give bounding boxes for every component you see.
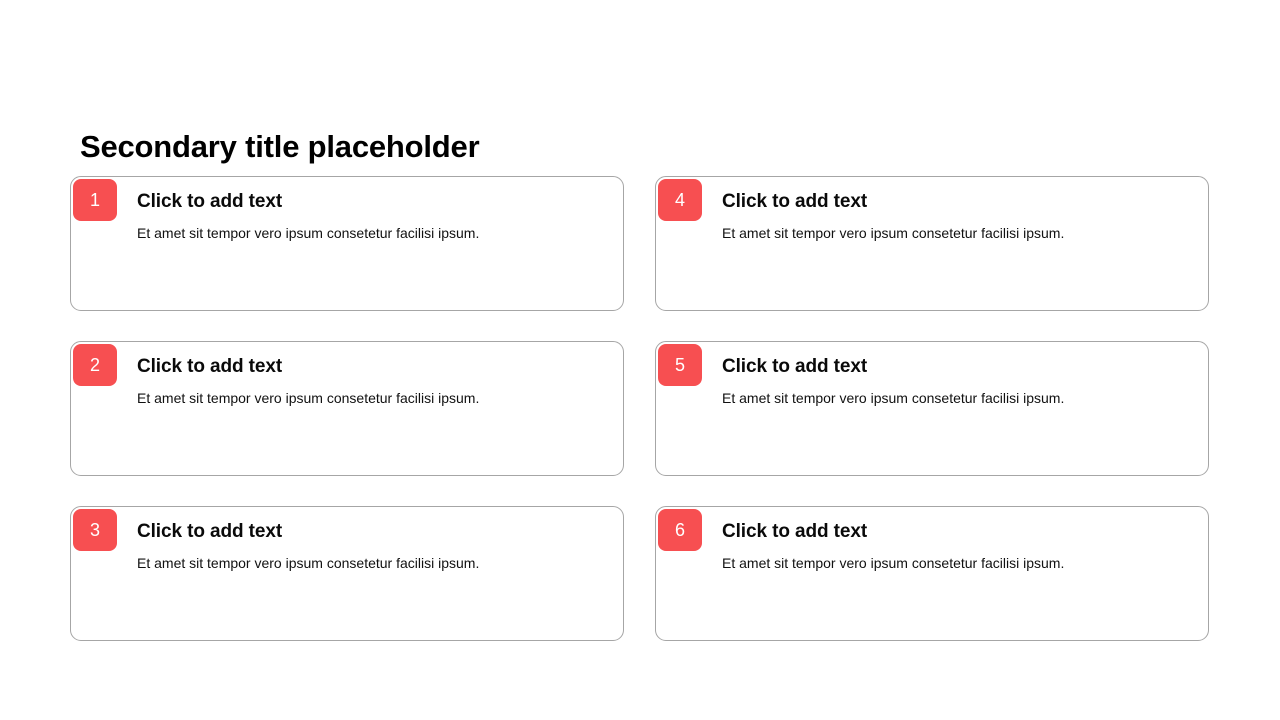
content-card[interactable]: 1 Click to add text Et amet sit tempor v… xyxy=(70,176,624,311)
card-description[interactable]: Et amet sit tempor vero ipsum consetetur… xyxy=(722,389,1194,408)
card-body: Click to add text Et amet sit tempor ver… xyxy=(137,342,609,475)
card-heading[interactable]: Click to add text xyxy=(137,519,282,544)
slide-canvas: Secondary title placeholder 1 Click to a… xyxy=(0,0,1280,720)
card-description[interactable]: Et amet sit tempor vero ipsum consetetur… xyxy=(137,554,609,573)
card-body: Click to add text Et amet sit tempor ver… xyxy=(722,177,1194,310)
card-number-badge: 1 xyxy=(73,179,117,221)
content-card[interactable]: 5 Click to add text Et amet sit tempor v… xyxy=(655,341,1209,476)
card-heading[interactable]: Click to add text xyxy=(722,189,867,214)
card-description[interactable]: Et amet sit tempor vero ipsum consetetur… xyxy=(137,224,609,243)
card-heading[interactable]: Click to add text xyxy=(137,189,282,214)
content-card[interactable]: 3 Click to add text Et amet sit tempor v… xyxy=(70,506,624,641)
card-body: Click to add text Et amet sit tempor ver… xyxy=(722,342,1194,475)
card-heading[interactable]: Click to add text xyxy=(137,354,282,379)
card-description[interactable]: Et amet sit tempor vero ipsum consetetur… xyxy=(722,224,1194,243)
content-card[interactable]: 6 Click to add text Et amet sit tempor v… xyxy=(655,506,1209,641)
card-number-badge: 3 xyxy=(73,509,117,551)
card-body: Click to add text Et amet sit tempor ver… xyxy=(722,507,1194,640)
page-title[interactable]: Secondary title placeholder xyxy=(80,127,1210,167)
card-number-badge: 4 xyxy=(658,179,702,221)
content-card[interactable]: 2 Click to add text Et amet sit tempor v… xyxy=(70,341,624,476)
card-number-badge: 2 xyxy=(73,344,117,386)
content-card[interactable]: 4 Click to add text Et amet sit tempor v… xyxy=(655,176,1209,311)
card-description[interactable]: Et amet sit tempor vero ipsum consetetur… xyxy=(722,554,1194,573)
card-number-badge: 6 xyxy=(658,509,702,551)
card-heading[interactable]: Click to add text xyxy=(722,354,867,379)
card-body: Click to add text Et amet sit tempor ver… xyxy=(137,177,609,310)
card-grid: 1 Click to add text Et amet sit tempor v… xyxy=(70,176,1209,642)
card-number-badge: 5 xyxy=(658,344,702,386)
card-description[interactable]: Et amet sit tempor vero ipsum consetetur… xyxy=(137,389,609,408)
card-heading[interactable]: Click to add text xyxy=(722,519,867,544)
card-body: Click to add text Et amet sit tempor ver… xyxy=(137,507,609,640)
